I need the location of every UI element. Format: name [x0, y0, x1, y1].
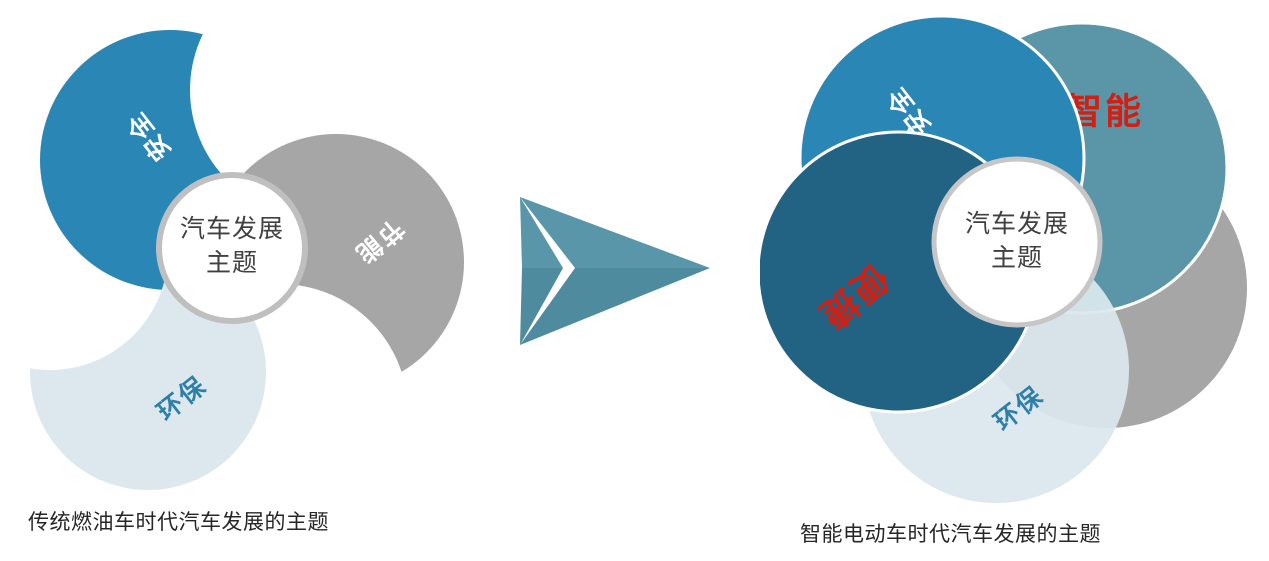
- left-center-hub-line2: 主题: [206, 249, 258, 277]
- left-center-hub-line1: 汽车发展: [180, 215, 284, 243]
- diagram-canvas: 安全 节能 环保 汽车发展 主题: [0, 0, 1269, 561]
- right-center-hub-line1: 汽车发展: [965, 210, 1069, 238]
- left-caption: 传统燃油车时代汽车发展的主题: [28, 506, 329, 536]
- arrow-panel: [495, 0, 745, 561]
- left-diagram-panel: 安全 节能 环保 汽车发展 主题: [0, 0, 510, 561]
- right-overlap-svg: 节能 智能 环保 安全 便捷: [760, 0, 1269, 510]
- right-center-hub[interactable]: 汽车发展 主题: [934, 159, 1100, 325]
- left-center-hub-circle: [159, 175, 305, 321]
- left-pinwheel-svg: 安全 节能 环保 汽车发展 主题: [0, 0, 510, 500]
- arrow-upper-wing: [520, 197, 710, 268]
- left-center-hub[interactable]: 汽车发展 主题: [159, 175, 305, 321]
- right-center-hub-line2: 主题: [991, 244, 1043, 272]
- right-caption: 智能电动车时代汽车发展的主题: [800, 518, 1101, 548]
- transition-arrow-svg: [495, 0, 745, 400]
- arrow-lower-wing: [520, 268, 710, 345]
- transition-arrow: [520, 197, 710, 345]
- right-center-hub-circle: [934, 159, 1100, 325]
- right-diagram-panel: 节能 智能 环保 安全 便捷: [760, 0, 1269, 561]
